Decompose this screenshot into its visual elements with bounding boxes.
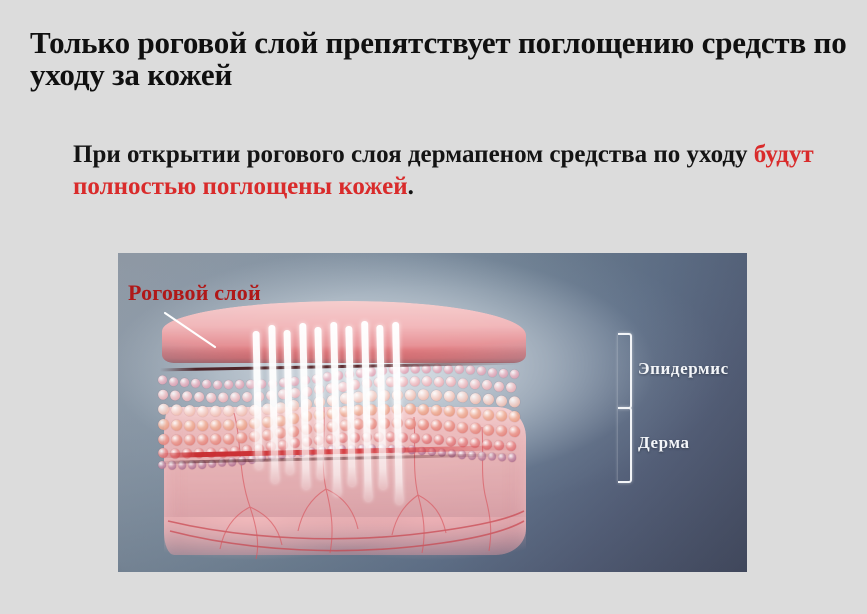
dermis-bracket — [618, 407, 632, 483]
skin-cross-section-figure: Роговой слой Эпидермис Дерма — [118, 253, 747, 572]
epidermis-bracket — [618, 333, 632, 409]
subtitle-text-prefix: При открытии рогового слоя дермапеном ср… — [73, 141, 754, 168]
subtitle-text-suffix: . — [408, 173, 414, 200]
page-title: Только роговой слой препятствует поглоще… — [30, 27, 850, 91]
slide-subtitle: При открытии рогового слоя дермапеном ср… — [73, 139, 843, 203]
callout-leader-line — [163, 311, 223, 351]
layer-label-dermis: Дерма — [638, 433, 690, 453]
corneum-callout-label: Роговой слой — [128, 280, 261, 306]
layer-label-epidermis: Эпидермис — [638, 359, 729, 379]
